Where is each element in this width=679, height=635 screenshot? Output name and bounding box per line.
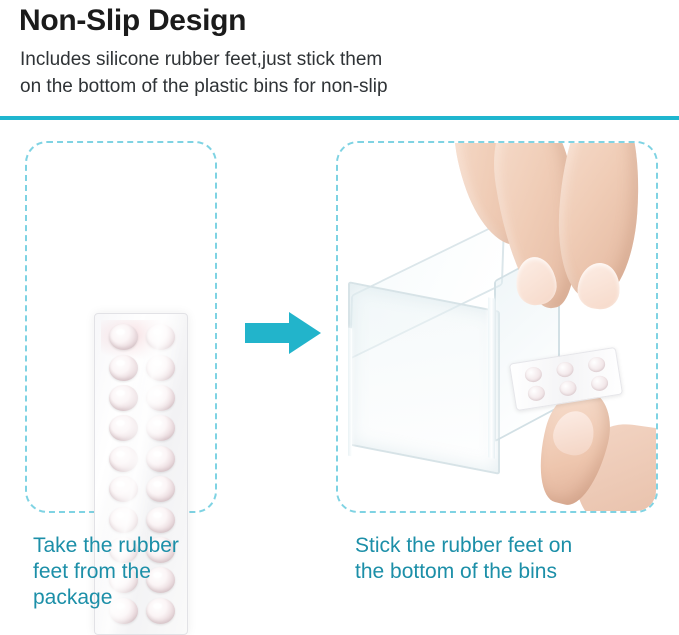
subtitle-line-2: on the bottom of the plastic bins for no…: [20, 73, 640, 100]
rubber-foot: [526, 385, 545, 402]
page-subtitle: Includes silicone rubber feet,just stick…: [20, 46, 640, 100]
caption-right-line-1: Stick the rubber feet on: [355, 533, 655, 559]
rubber-foot: [523, 366, 542, 383]
rubber-foot: [555, 361, 574, 378]
panel-left: [25, 141, 217, 513]
right-arrow-icon: [243, 310, 323, 356]
rubber-feet-strip: [509, 347, 623, 411]
rubber-foot: [590, 375, 609, 392]
bin-edge-highlight: [348, 328, 352, 457]
strip-feet-grid: [516, 353, 617, 406]
subtitle-line-1: Includes silicone rubber feet,just stick…: [20, 46, 640, 73]
page-title: Non-Slip Design: [19, 4, 246, 38]
header: Non-Slip Design Includes silicone rubber…: [0, 0, 679, 120]
upper-hand: [456, 143, 656, 322]
header-divider: [0, 116, 679, 120]
rubber-foot: [558, 380, 577, 397]
caption-right-line-2: the bottom of the bins: [355, 559, 655, 585]
caption-right: Stick the rubber feet on the bottom of t…: [355, 533, 655, 585]
rubber-foot: [587, 356, 606, 373]
caption-left-line-3: package: [33, 585, 243, 611]
caption-left-line-2: feet from the: [33, 559, 243, 585]
infographic-page: Non-Slip Design Includes silicone rubber…: [0, 0, 679, 613]
bin-scene-image: [338, 143, 656, 511]
lower-hand: [506, 353, 656, 511]
caption-left: Take the rubber feet from the package: [33, 533, 243, 611]
caption-left-line-1: Take the rubber: [33, 533, 243, 559]
